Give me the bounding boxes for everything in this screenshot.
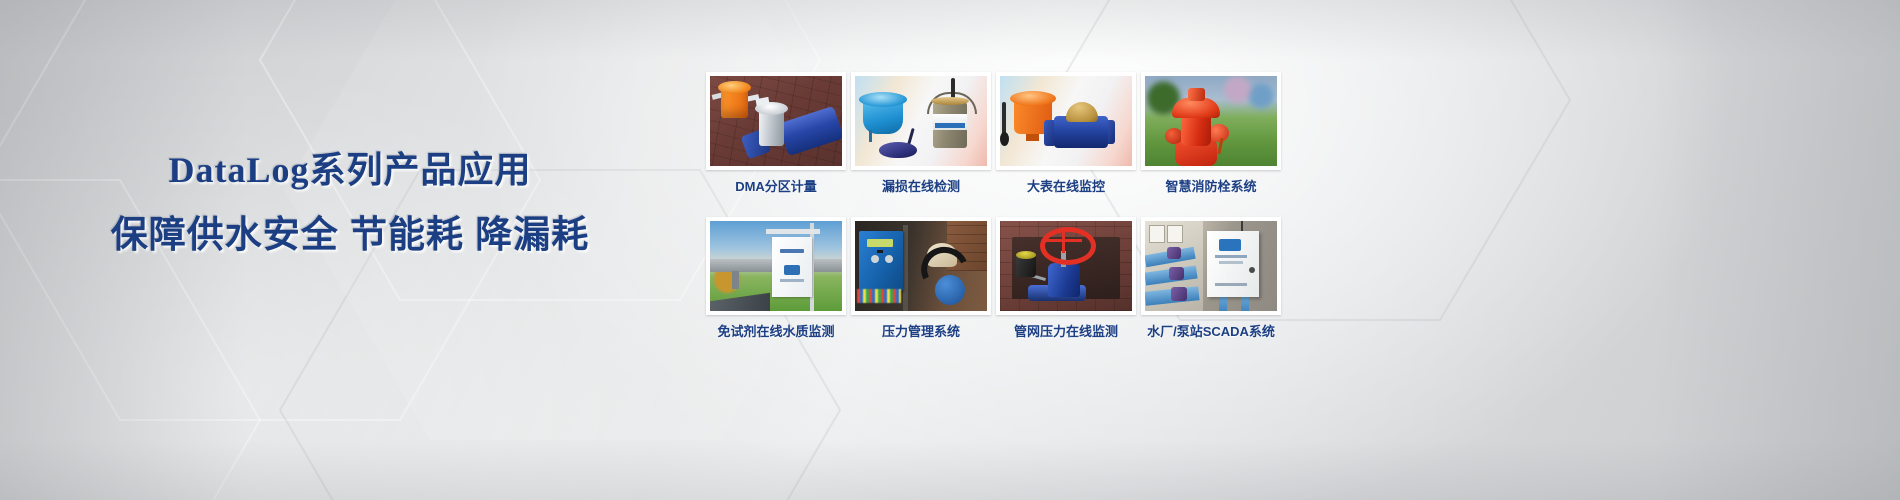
product-card-pressure-management-system[interactable]: 压力管理系统 (851, 217, 991, 357)
product-thumb-frame[interactable] (706, 72, 846, 170)
dma-zone-metering-photo (710, 76, 842, 166)
product-thumb-frame[interactable] (1141, 217, 1281, 315)
smart-hydrant-system-photo (1145, 76, 1277, 166)
headline-line-1-cjk: 系列产品应用 (309, 149, 531, 190)
product-card-reagent-free-water-quality[interactable]: 免试剂在线水质监测 (706, 217, 846, 357)
product-caption: 漏损在线检测 (882, 179, 960, 195)
product-caption: 管网压力在线监测 (1014, 324, 1118, 340)
product-caption: DMA分区计量 (735, 179, 817, 195)
headline-block: DataLog系列产品应用 保障供水安全 节能耗 降漏耗 (0, 148, 700, 258)
leakage-online-detection-photo (855, 76, 987, 166)
large-meter-monitoring-photo (1000, 76, 1132, 166)
waterworks-scada-system-photo (1145, 221, 1277, 311)
product-caption: 免试剂在线水质监测 (717, 324, 834, 340)
product-thumb-frame[interactable] (996, 217, 1136, 315)
product-thumb-frame[interactable] (851, 72, 991, 170)
pipe-network-pressure-photo (1000, 221, 1132, 311)
headline-line-2: 保障供水安全 节能耗 降漏耗 (0, 212, 700, 258)
pressure-management-system-photo (855, 221, 987, 311)
product-caption: 智慧消防栓系统 (1165, 179, 1256, 195)
product-caption: 大表在线监控 (1027, 179, 1105, 195)
product-card-waterworks-scada-system[interactable]: 水厂/泵站SCADA系统 (1141, 217, 1281, 357)
product-card-dma-zone-metering[interactable]: DMA分区计量 (706, 72, 846, 212)
product-caption: 水厂/泵站SCADA系统 (1147, 324, 1275, 340)
product-thumb-frame[interactable] (996, 72, 1136, 170)
product-thumb-frame[interactable] (1141, 72, 1281, 170)
headline-line-1: DataLog系列产品应用 (0, 148, 700, 192)
product-grid: DMA分区计量 漏损在线检测 (706, 72, 1281, 357)
headline-brand: DataLog (168, 150, 309, 190)
product-card-leakage-online-detection[interactable]: 漏损在线检测 (851, 72, 991, 212)
product-caption: 压力管理系统 (882, 324, 960, 340)
product-thumb-frame[interactable] (706, 217, 846, 315)
product-card-large-meter-monitoring[interactable]: 大表在线监控 (996, 72, 1136, 212)
reagent-free-water-quality-photo (710, 221, 842, 311)
product-card-smart-hydrant-system[interactable]: 智慧消防栓系统 (1141, 72, 1281, 212)
product-card-pipe-network-pressure[interactable]: 管网压力在线监测 (996, 217, 1136, 357)
promo-banner: DataLog系列产品应用 保障供水安全 节能耗 降漏耗 (0, 0, 1900, 500)
product-thumb-frame[interactable] (851, 217, 991, 315)
